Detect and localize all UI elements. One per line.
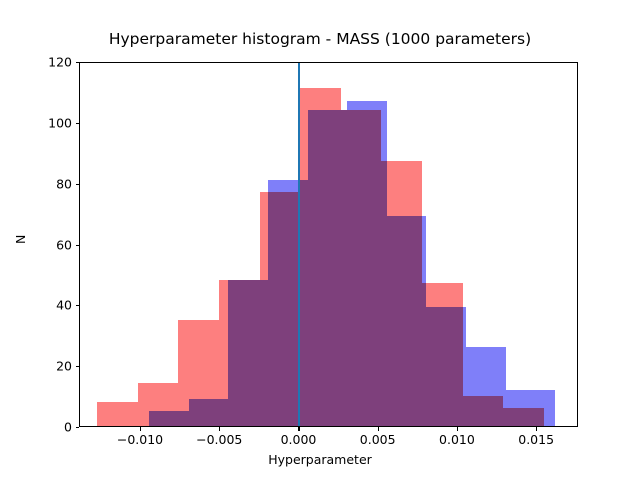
x-tick-mark: [298, 427, 299, 431]
y-tick-label: 20: [56, 359, 72, 374]
x-tick-mark: [457, 427, 458, 431]
histogram-bar: [189, 399, 229, 426]
figure-canvas: Hyperparameter histogram - MASS (1000 pa…: [0, 0, 640, 480]
x-tick-mark: [140, 427, 141, 431]
x-tick-mark: [378, 427, 379, 431]
x-tick-label: 0.010: [439, 432, 475, 447]
x-tick-label: 0.000: [281, 432, 317, 447]
histogram-bar: [466, 347, 506, 426]
y-tick-label: 120: [48, 55, 72, 70]
y-tick-mark: [76, 427, 80, 428]
x-tick-label: −0.005: [196, 432, 242, 447]
x-tick-label: −0.010: [117, 432, 163, 447]
x-tick-label: 0.005: [360, 432, 396, 447]
x-tick-mark: [219, 427, 220, 431]
histogram-bar: [426, 307, 466, 426]
y-tick-label: 40: [56, 298, 72, 313]
y-tick-label: 80: [56, 176, 72, 191]
histogram-bar: [347, 101, 387, 426]
plot-area: [79, 62, 578, 427]
histogram-bar: [228, 280, 268, 426]
y-tick-label: 60: [56, 237, 72, 252]
chart-title: Hyperparameter histogram - MASS (1000 pa…: [0, 30, 640, 48]
histogram-bar: [97, 402, 138, 426]
y-tick-label: 100: [48, 115, 72, 130]
histogram-bar: [506, 390, 556, 427]
histogram-bar: [308, 110, 348, 426]
histogram-bar: [387, 216, 427, 426]
x-tick-mark: [536, 427, 537, 431]
x-axis-label: Hyperparameter: [0, 452, 640, 467]
y-tick-label: 0: [64, 420, 72, 435]
histogram-bar: [268, 180, 308, 426]
x-tick-label: 0.015: [518, 432, 554, 447]
zero-reference-line: [298, 63, 300, 426]
y-axis-label: N: [13, 235, 28, 244]
histogram-bar: [149, 411, 189, 426]
